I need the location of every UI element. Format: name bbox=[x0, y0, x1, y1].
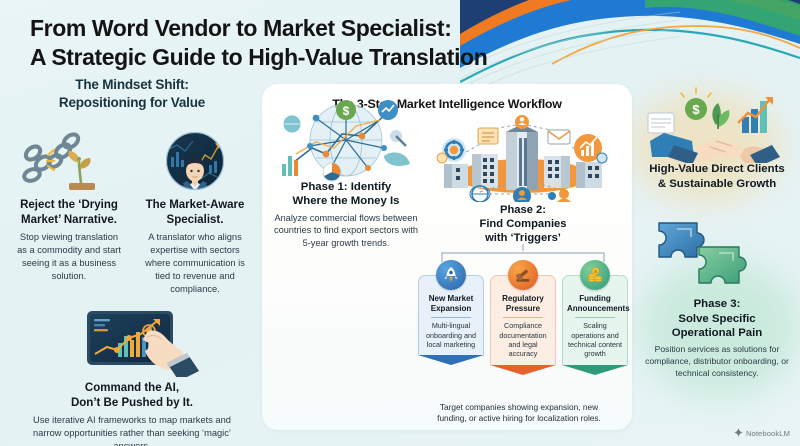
trigger-card-funding-announcements[interactable]: $ Funding Announcements Scaling operatio… bbox=[562, 260, 628, 375]
phase-2-title: Phase 2: Find Companies with ‘Triggers’ bbox=[420, 204, 626, 246]
hand-touching-dashboard-icon bbox=[22, 309, 242, 375]
mindset-card-1-title-line-1: Reject the ‘Drying bbox=[14, 198, 124, 212]
trigger-card-regulatory-pressure[interactable]: Regulatory Pressure Compliance documenta… bbox=[490, 260, 556, 375]
trigger-card-3-name-line-2: Announcements bbox=[567, 304, 623, 314]
mindset-heading-line-1: The Mindset Shift: bbox=[6, 76, 258, 94]
trigger-card-3-divider bbox=[575, 317, 615, 318]
mindset-card-command-the-ai: Command the AI, Don’t Be Pushed by It. U… bbox=[6, 309, 258, 446]
global-trade-network-chart-icon: $ bbox=[276, 90, 416, 182]
right-column: $ bbox=[634, 84, 800, 380]
outcome-title-line-2: & Sustainable Growth bbox=[634, 177, 800, 192]
trigger-card-1-name-line-2: Expansion bbox=[423, 304, 479, 314]
trigger-card-2-name-line-2: Pressure bbox=[495, 304, 551, 314]
workflow-panel: The 3-Step Market Intelligence Workflow bbox=[262, 84, 632, 430]
mindset-card-2-title-line-1: The Market-Aware bbox=[140, 198, 250, 212]
svg-text:$: $ bbox=[692, 102, 700, 117]
trigger-card-2-name: Regulatory Pressure bbox=[495, 294, 551, 313]
trigger-card-1-description: Multi-lingual onboarding and local marke… bbox=[423, 321, 479, 349]
outcome-title: High-Value Direct Clients & Sustainable … bbox=[634, 162, 800, 191]
trigger-card-2-name-line-1: Regulatory bbox=[495, 294, 551, 304]
coin-stack-icon: $ bbox=[580, 260, 610, 290]
phase-2-footer-line-1: Target companies showing expansion, new bbox=[406, 402, 632, 413]
notebooklm-watermark-label: NotebookLM bbox=[746, 429, 790, 438]
svg-text:$: $ bbox=[594, 269, 597, 274]
mindset-card-1-body: Stop viewing translation as a commodity … bbox=[14, 231, 124, 282]
phase-1-block: Phase 1: Identify Where the Money Is Ana… bbox=[270, 180, 422, 250]
phase-2-footer-line-2: funding, or active hiring for localizati… bbox=[406, 413, 632, 424]
phase-2-footer-note: Target companies showing expansion, new … bbox=[406, 402, 632, 424]
mindset-card-grid: Reject the ‘Drying Market’ Narrative. St… bbox=[6, 130, 258, 295]
trigger-card-list: New Market Expansion Multi-lingual onboa… bbox=[418, 260, 628, 375]
mindset-section-heading: The Mindset Shift: Repositioning for Val… bbox=[6, 76, 258, 112]
phase-2-block: Phase 2: Find Companies with ‘Triggers’ bbox=[420, 114, 626, 246]
phase-3-title-line-1: Phase 3: bbox=[634, 297, 800, 312]
mindset-card-1-title: Reject the ‘Drying Market’ Narrative. bbox=[14, 198, 124, 227]
trigger-card-new-market-expansion[interactable]: New Market Expansion Multi-lingual onboa… bbox=[418, 260, 484, 375]
trigger-card-3-pointer bbox=[562, 365, 628, 375]
mindset-card-market-aware-specialist: The Market-Aware Specialist. A translato… bbox=[132, 130, 258, 295]
trigger-card-1-divider bbox=[431, 317, 471, 318]
trigger-card-1-name: New Market Expansion bbox=[423, 294, 479, 313]
mindset-card-2-body: A translator who aligns expertise with s… bbox=[140, 231, 250, 295]
phase-3-block: Phase 3: Solve Specific Operational Pain… bbox=[634, 215, 800, 379]
phase-3-title: Phase 3: Solve Specific Operational Pain bbox=[634, 297, 800, 341]
page-title: From Word Vendor to Market Specialist: A… bbox=[30, 14, 590, 72]
phase-1-title: Phase 1: Identify Where the Money Is bbox=[270, 180, 422, 209]
mindset-wide-card-body: Use iterative AI frameworks to map marke… bbox=[22, 414, 242, 446]
corporate-buildings-network-icon bbox=[420, 114, 626, 202]
gavel-icon bbox=[508, 260, 538, 290]
notebooklm-spark-icon bbox=[734, 428, 743, 439]
mindset-card-reject-narrative: Reject the ‘Drying Market’ Narrative. St… bbox=[6, 130, 132, 295]
puzzle-pieces-icon bbox=[634, 215, 800, 297]
phase-3-body: Position services as solutions for compl… bbox=[634, 344, 800, 380]
trigger-card-2-divider bbox=[503, 317, 543, 318]
mindset-card-2-title-line-2: Specialist. bbox=[140, 213, 250, 227]
phase-2-title-line-1: Phase 2: bbox=[420, 204, 626, 218]
broken-chain-wilting-plant-icon bbox=[14, 130, 124, 192]
phase-1-title-line-1: Phase 1: Identify bbox=[270, 180, 422, 194]
trigger-card-3-description: Scaling operations and technical content… bbox=[567, 321, 623, 358]
outcome-title-line-1: High-Value Direct Clients bbox=[634, 162, 800, 177]
phase-3-title-line-2: Solve Specific bbox=[634, 312, 800, 327]
handshake-growth-plant-icon: $ bbox=[634, 84, 800, 162]
mindset-wide-card-title-line-1: Command the AI, bbox=[22, 381, 242, 395]
mindset-card-1-title-line-2: Market’ Narrative. bbox=[14, 213, 124, 227]
trigger-card-1-pointer bbox=[418, 355, 484, 365]
trigger-card-1-name-line-1: New Market bbox=[423, 294, 479, 304]
phase-2-title-line-2: Find Companies bbox=[420, 218, 626, 232]
mindset-heading-line-2: Repositioning for Value bbox=[6, 94, 258, 112]
mindset-card-2-title: The Market-Aware Specialist. bbox=[140, 198, 250, 227]
page-title-line-2: A Strategic Guide to High-Value Translat… bbox=[30, 43, 590, 72]
trigger-card-2-description: Compliance documentation and legal accur… bbox=[495, 321, 551, 358]
mindset-wide-card-title: Command the AI, Don’t Be Pushed by It. bbox=[22, 381, 242, 410]
business-analyst-portrait-icon bbox=[140, 130, 250, 192]
rocket-icon bbox=[436, 260, 466, 290]
infographic-canvas: From Word Vendor to Market Specialist: A… bbox=[0, 0, 800, 446]
mindset-wide-card-title-line-2: Don’t Be Pushed by It. bbox=[22, 396, 242, 410]
trigger-card-3-name-line-1: Funding bbox=[567, 294, 623, 304]
phase-3-title-line-3: Operational Pain bbox=[634, 326, 800, 341]
phase-1-title-line-2: Where the Money Is bbox=[270, 194, 422, 208]
trigger-card-2-pointer bbox=[490, 365, 556, 375]
svg-text:$: $ bbox=[343, 104, 350, 118]
notebooklm-watermark: NotebookLM bbox=[734, 428, 790, 439]
left-column: The Mindset Shift: Repositioning for Val… bbox=[6, 76, 258, 446]
page-title-line-1: From Word Vendor to Market Specialist: bbox=[30, 15, 451, 41]
trigger-card-3-name: Funding Announcements bbox=[567, 294, 623, 313]
phase-1-body: Analyze commercial flows between countri… bbox=[270, 212, 422, 251]
